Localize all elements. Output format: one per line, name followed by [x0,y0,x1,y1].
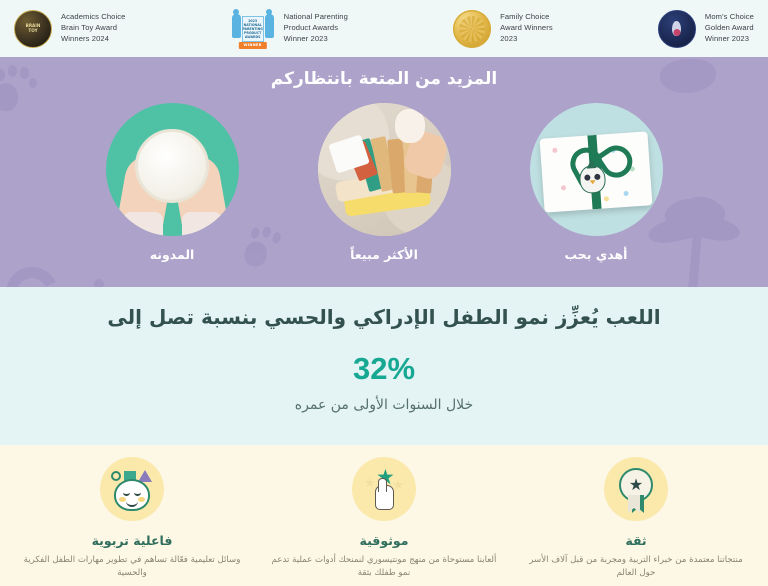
award-item-academics-choice: BRAIN TOY Academics Choice Brain Toy Awa… [14,10,126,48]
gift-box-photo[interactable] [530,103,663,236]
national-parenting-award-badge-icon: 2023 NATIONAL PARENTING PRODUCT AWARDS W… [231,9,275,49]
stat-subtitle: خلال السنوات الأولى من عمره [0,397,768,413]
family-choice-award-badge-icon [453,10,491,48]
owl-mascot-icon [578,164,606,194]
stat-number: 32% [0,351,768,387]
stat-headline: اللعب يُعزِّز نمو الطفل الإدراكي والحسي … [0,305,768,329]
award-line: Academics Choice [61,12,126,23]
circle-shape-icon [111,471,121,481]
hand-pointer-stars-icon: ★ ★ ★ ★ [352,457,416,521]
award-line: Mom's Choice [705,12,754,23]
features-section: ★ ثقة منتجاتنا معتمدة من خبراء التربية و… [0,445,768,586]
badge-line-2: TOY [28,29,37,34]
kid-figure-left-icon [232,14,241,38]
award-line: Winners 2024 [61,34,126,45]
brain-toy-award-badge-icon: BRAIN TOY [14,10,52,48]
small-star-icon: ★ [364,477,376,490]
stat-section: اللعب يُعزِّز نمو الطفل الإدراكي والحسي … [0,287,768,445]
awards-strip: BRAIN TOY Academics Choice Brain Toy Awa… [0,0,768,57]
hero-cards-row: أهدي بحب الأكثر مبيعاً [0,103,768,262]
hero-card-label: أهدي بحب [521,247,671,262]
award-text-family-choice: Family Choice Award Winners 2023 [500,12,553,44]
feature-title: فاعلية تربوية [16,533,248,548]
star-glyph-icon: ★ [629,477,643,493]
hand-cursor-icon [375,485,394,510]
baby-face-shapes-icon [100,457,164,521]
feature-educational: فاعلية تربوية وسائل تعليمية فعّالة تساهم… [6,457,258,586]
award-rosette-icon: ★ [604,457,668,521]
award-line: Winner 2023 [284,34,348,45]
award-line: Product Awards [284,23,348,34]
feature-description: منتجاتنا معتمدة من خبراء التربية ومجربة … [520,554,752,581]
feature-trust: ★ ثقة منتجاتنا معتمدة من خبراء التربية و… [510,457,762,586]
winner-ribbon: WINNER [238,42,266,49]
award-item-family-choice: Family Choice Award Winners 2023 [453,10,553,48]
award-text-academics-choice: Academics Choice Brain Toy Award Winners… [61,12,126,44]
hero-card-label: الأكثر مبيعاً [309,247,459,262]
hero-card-blog[interactable]: المدونه [97,103,247,262]
award-text-moms-choice: Mom's Choice Golden Award Winner 2023 [705,12,754,44]
award-text-national-parenting: National Parenting Product Awards Winner… [284,12,348,44]
hero-card-bestseller[interactable]: الأكثر مبيعاً [309,103,459,262]
hero-section: المزيد من المتعة بانتظاركم [0,57,768,287]
award-line: Brain Toy Award [61,23,126,34]
moms-choice-award-badge-icon [658,10,696,48]
award-line: Family Choice [500,12,553,23]
badge-line: AWARDS [245,35,261,39]
award-line: Golden Award [705,23,754,34]
award-line: National Parenting [284,12,348,23]
award-line: Award Winners [500,23,553,34]
baby-head-icon [114,479,150,511]
feature-description: ألعابنا مستوحاة من منهج مونتيسوري لنمنحك… [268,554,500,581]
gift-box-icon [540,131,653,212]
award-item-moms-choice: Mom's Choice Golden Award Winner 2023 [658,10,754,48]
kid-figure-right-icon [265,14,274,38]
feature-title: ثقة [520,533,752,548]
badge-center-plate: 2023 NATIONAL PARENTING PRODUCT AWARDS [242,16,264,42]
feature-description: وسائل تعليمية فعّالة تساهم في تطوير مهار… [16,554,248,581]
wooden-blocks-photo[interactable] [318,103,451,236]
award-line: Winner 2023 [705,34,754,45]
feature-reliability: ★ ★ ★ ★ موثوقية ألعابنا مستوحاة من منهج … [258,457,510,586]
award-line: 2023 [500,34,553,45]
hero-title: المزيد من المتعة بانتظاركم [0,57,768,89]
hands-holding-cup-photo[interactable] [106,103,239,236]
feature-title: موثوقية [268,533,500,548]
award-item-national-parenting: 2023 NATIONAL PARENTING PRODUCT AWARDS W… [231,9,348,49]
hero-card-gift[interactable]: أهدي بحب [521,103,671,262]
cup-icon [135,129,209,203]
hero-card-label: المدونه [97,247,247,262]
